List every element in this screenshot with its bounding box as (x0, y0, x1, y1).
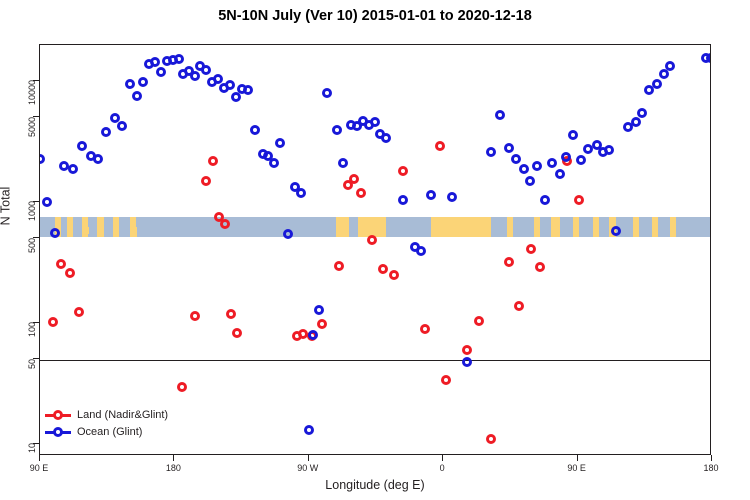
data-point-ocean (322, 88, 332, 98)
data-point-land (504, 257, 514, 267)
coastline-speck (86, 227, 89, 234)
coastline-speck (555, 227, 558, 231)
y-tick-label: 100 (27, 322, 37, 337)
data-point-ocean (486, 147, 496, 157)
data-point-land (367, 235, 377, 245)
data-point-ocean (243, 85, 253, 95)
data-point-land (486, 434, 496, 444)
data-point-ocean (296, 188, 306, 198)
y-tick-label: 10 (27, 443, 37, 453)
y-tick-label: 500 (27, 238, 37, 253)
page-title: 5N-10N July (Ver 10) 2015-01-01 to 2020-… (0, 8, 750, 24)
coastline-speck (673, 227, 676, 237)
data-point-ocean (201, 65, 211, 75)
legend-item-ocean[interactable]: Ocean (Glint) (45, 423, 168, 440)
data-point-ocean (568, 130, 578, 140)
data-point-ocean (101, 127, 111, 137)
data-point-ocean (68, 164, 78, 174)
data-point-land (435, 141, 445, 151)
land-marker-icon (45, 408, 71, 421)
data-point-ocean (225, 80, 235, 90)
data-point-ocean (665, 61, 675, 71)
data-point-land (65, 268, 75, 278)
x-axis-title: Longitude (deg E) (0, 478, 750, 492)
data-point-ocean (275, 138, 285, 148)
x-tick-label: 0 (440, 463, 445, 473)
legend-circle-land (53, 410, 63, 420)
data-point-ocean (77, 141, 87, 151)
data-point-ocean (631, 117, 641, 127)
data-point-ocean (381, 133, 391, 143)
data-point-land (232, 328, 242, 338)
data-point-ocean (576, 155, 586, 165)
legend-circle-ocean (53, 427, 63, 437)
data-point-land (474, 316, 484, 326)
coastline-speck (59, 222, 61, 229)
data-point-land (317, 319, 327, 329)
coastline-speck (340, 217, 341, 221)
coastline-speck (56, 217, 57, 221)
data-point-ocean (511, 154, 521, 164)
coastline-speck (537, 222, 539, 235)
x-tick-label: 90 W (297, 463, 318, 473)
coastline-speck (83, 222, 85, 226)
coastline-speck (437, 222, 439, 226)
data-point-ocean (532, 161, 542, 171)
data-point-ocean (156, 67, 166, 77)
data-point-ocean (138, 77, 148, 87)
coastline-speck (101, 222, 103, 235)
reference-line (40, 360, 710, 361)
x-tick-mark (308, 455, 309, 461)
coastline-speck (361, 227, 364, 237)
data-point-land (48, 317, 58, 327)
data-point-ocean (447, 192, 457, 202)
coastline-speck (380, 217, 381, 230)
coastline-speck (71, 217, 72, 230)
data-point-land (420, 324, 430, 334)
plot-area (39, 44, 711, 455)
data-point-land (334, 261, 344, 271)
land-segment (431, 217, 491, 237)
data-point-land (378, 264, 388, 274)
data-point-land (201, 176, 211, 186)
data-point-land (574, 195, 584, 205)
x-tick-mark (711, 455, 712, 461)
surface-type-band (40, 217, 710, 237)
coastline-speck (134, 227, 137, 237)
data-point-ocean (314, 305, 324, 315)
y-tick-label: 5000 (27, 117, 37, 137)
data-point-land (177, 382, 187, 392)
data-point-ocean (150, 57, 160, 67)
x-tick-mark (577, 455, 578, 461)
coastline-speck (636, 217, 637, 221)
data-point-ocean (540, 195, 550, 205)
y-axis-title-label: N Total (0, 186, 12, 225)
legend: Land (Nadir&Glint) Ocean (Glint) (45, 406, 168, 440)
data-point-land (349, 174, 359, 184)
legend-item-land[interactable]: Land (Nadir&Glint) (45, 406, 168, 423)
data-point-ocean (42, 197, 52, 207)
data-point-ocean (637, 108, 647, 118)
coastline-speck (576, 217, 577, 224)
data-point-ocean (93, 154, 103, 164)
data-point-land (356, 188, 366, 198)
coastline-speck (131, 222, 133, 232)
legend-label-land: Land (Nadir&Glint) (77, 409, 168, 421)
data-point-ocean (604, 145, 614, 155)
data-point-ocean (250, 125, 260, 135)
chart-page: 5N-10N July (Ver 10) 2015-01-01 to 2020-… (0, 0, 750, 500)
data-point-ocean (269, 158, 279, 168)
x-tick-mark (442, 455, 443, 461)
data-point-land (535, 262, 545, 272)
coastline-speck (118, 217, 119, 224)
coastline-speck (655, 222, 657, 229)
data-point-ocean (125, 79, 135, 89)
legend-label-ocean: Ocean (Glint) (77, 426, 142, 438)
data-point-ocean (555, 169, 565, 179)
data-point-ocean (525, 176, 535, 186)
data-point-land (526, 244, 536, 254)
coastline-speck (115, 227, 118, 231)
x-tick-mark (173, 455, 174, 461)
coastline-speck (487, 227, 490, 234)
data-point-ocean (416, 246, 426, 256)
data-point-land (208, 156, 218, 166)
data-point-ocean (304, 425, 314, 435)
data-point-land (226, 309, 236, 319)
ocean-marker-icon (45, 425, 71, 438)
data-point-ocean (283, 229, 293, 239)
data-point-land (514, 301, 524, 311)
data-point-land (56, 259, 66, 269)
data-point-ocean (398, 195, 408, 205)
data-point-ocean (338, 158, 348, 168)
data-point-ocean (495, 110, 505, 120)
data-point-ocean (174, 54, 184, 64)
data-point-ocean (308, 330, 318, 340)
data-point-ocean (40, 154, 45, 164)
plot-inner (40, 45, 710, 454)
y-tick-label: 10000 (27, 80, 37, 105)
data-point-ocean (50, 228, 60, 238)
data-point-ocean (652, 79, 662, 89)
x-tick-label: 90 E (30, 463, 49, 473)
coastline-speck (510, 217, 511, 227)
data-point-ocean (462, 357, 472, 367)
y-axis-title: N Total (0, 0, 12, 411)
data-point-land (441, 375, 451, 385)
data-point-land (190, 311, 200, 321)
x-tick-label: 90 E (567, 463, 586, 473)
data-point-ocean (519, 164, 529, 174)
x-tick-mark (39, 455, 40, 461)
data-point-ocean (547, 158, 557, 168)
y-tick-label: 1000 (27, 201, 37, 221)
data-point-ocean (117, 121, 127, 131)
data-point-land (462, 345, 472, 355)
data-point-ocean (190, 71, 200, 81)
data-point-ocean (370, 117, 380, 127)
y-tick-label: 50 (27, 359, 37, 369)
data-point-land (389, 270, 399, 280)
data-point-land (398, 166, 408, 176)
data-point-ocean (504, 143, 514, 153)
coastline-speck (98, 217, 99, 227)
data-point-ocean (332, 125, 342, 135)
x-tick-label: 180 (703, 463, 718, 473)
data-point-ocean (426, 190, 436, 200)
data-point-land (74, 307, 84, 317)
coastline-speck (596, 222, 598, 232)
data-point-ocean (132, 91, 142, 101)
coastline-speck (346, 222, 348, 229)
x-tick-label: 180 (166, 463, 181, 473)
